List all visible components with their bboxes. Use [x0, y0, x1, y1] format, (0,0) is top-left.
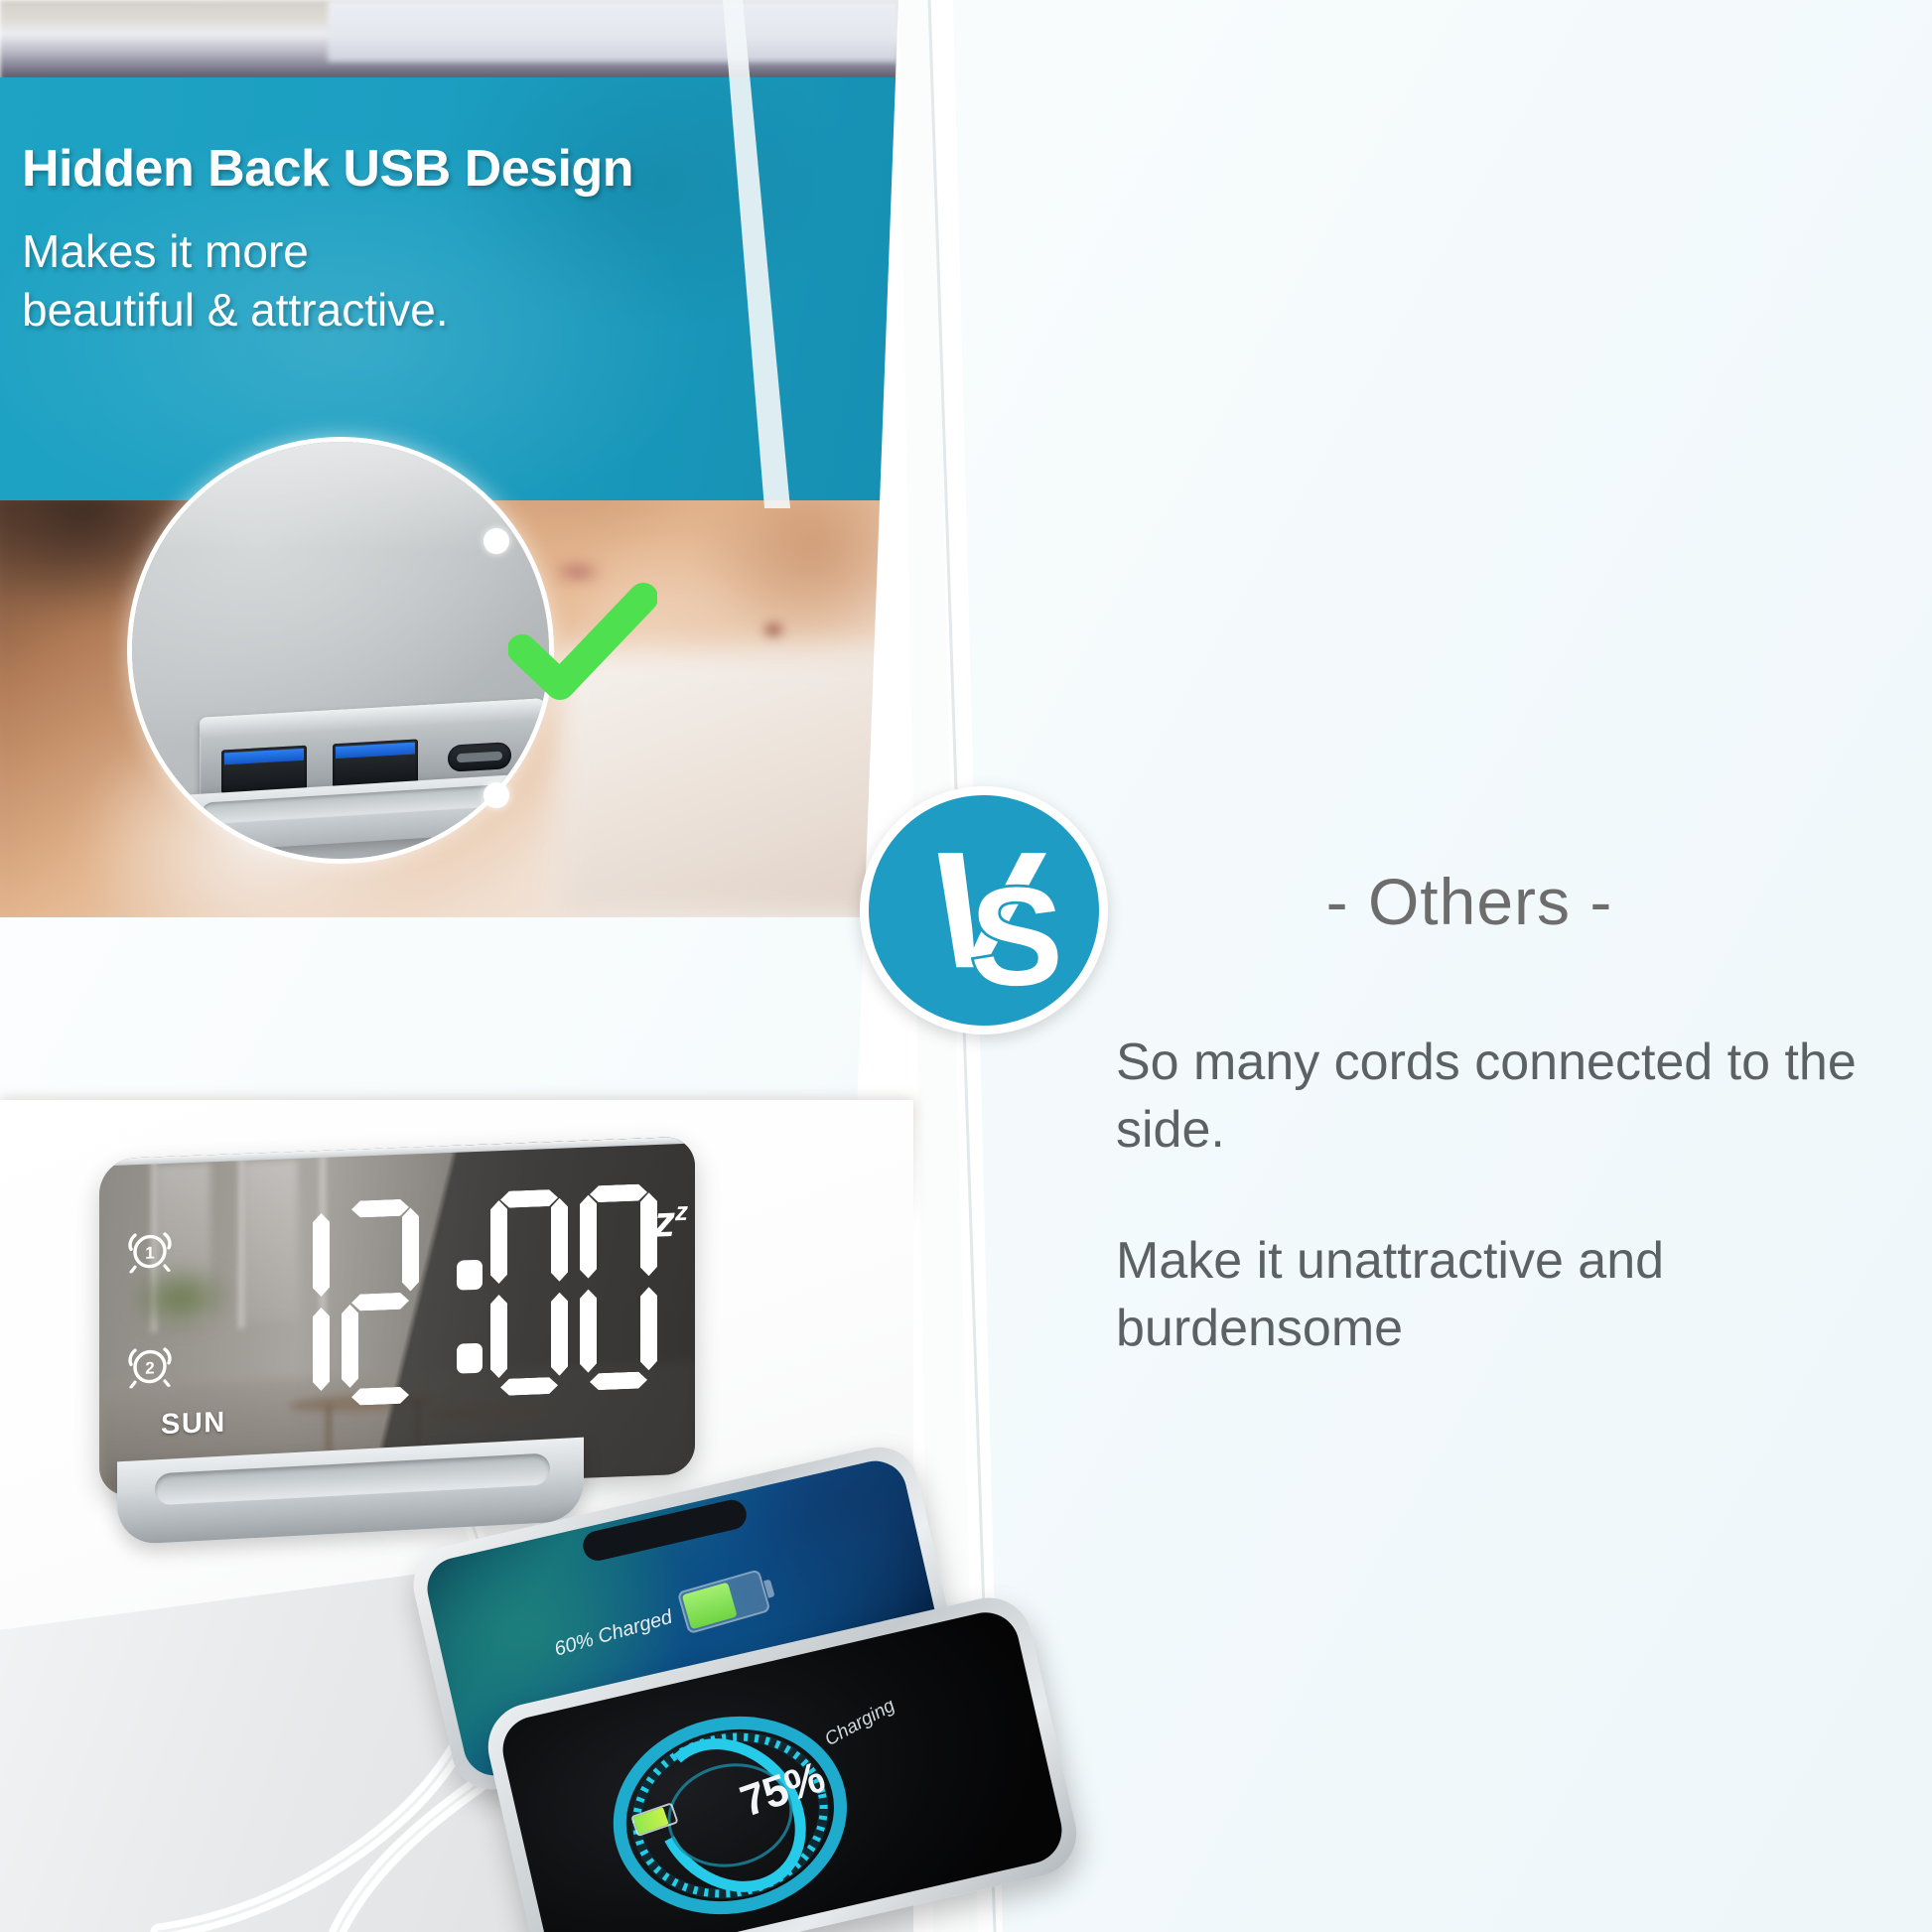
svg-text:S: S: [970, 859, 1063, 1015]
svg-text:2: 2: [145, 1358, 154, 1377]
charge-status-text: 60% Charged: [552, 1605, 675, 1661]
battery-fill: [682, 1582, 738, 1629]
battery-icon: [677, 1569, 771, 1634]
clock-mirror-body: 1 2: [99, 1136, 695, 1496]
led-digit-3: [490, 1188, 568, 1396]
others-paragraph-2: Make it unattractive and burdensome: [1116, 1228, 1930, 1362]
banner-subheading-line-1: Makes it more: [22, 222, 717, 281]
clock-stand-groove: [155, 1452, 550, 1505]
svg-text:1: 1: [145, 1243, 154, 1262]
usb-c-port-icon: [448, 742, 511, 772]
photo-detail-shoulder: [760, 620, 786, 641]
others-heading: - Others -: [1191, 864, 1747, 939]
charging-label: Charging: [821, 1695, 898, 1751]
led-digit-1: [252, 1204, 330, 1412]
callout-dot-top: [483, 528, 509, 554]
alarm-clock-device: 1 2: [99, 1148, 695, 1485]
battery-cap: [763, 1579, 775, 1597]
led-digit-4: [580, 1183, 657, 1391]
led-colon: [453, 1198, 486, 1402]
usb-a-port-icon: [333, 739, 418, 787]
alarm-clock-1-icon: 1: [127, 1222, 173, 1274]
product-comparison-infographic: Hidden Back USB Design Makes it more bea…: [0, 0, 1932, 1932]
vs-badge-label: V S: [875, 801, 1093, 1020]
day-of-week-label: SUN: [161, 1407, 226, 1443]
others-paragraph-1: So many cords connected to the side.: [1116, 1030, 1930, 1164]
usb-a-port-icon: [221, 746, 307, 794]
callout-dot-bottom: [483, 782, 509, 808]
banner-subheading-line-2: beautiful & attractive.: [22, 281, 717, 340]
green-checkmark-icon: [508, 578, 657, 707]
bedroom-photo-top-strip-highlight: [328, 0, 898, 62]
page-title: Hidden Back USB Design: [22, 139, 876, 199]
led-time-display: zz: [246, 1167, 673, 1442]
banner-subheading: Makes it more beautiful & attractive.: [22, 222, 717, 340]
led-digit-2: [342, 1198, 419, 1406]
alarm-clock-2-icon: 2: [127, 1337, 173, 1389]
snooze-zz-icon: zz: [653, 1198, 688, 1245]
vs-badge: V S: [860, 786, 1108, 1035]
